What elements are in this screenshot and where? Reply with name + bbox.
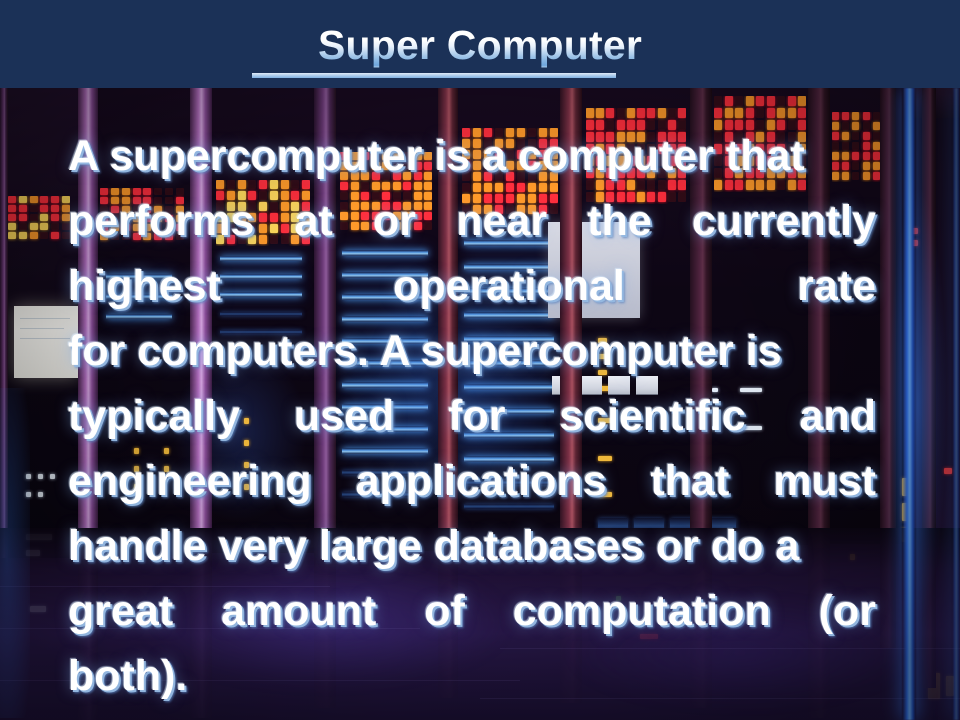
led-dot <box>617 108 625 118</box>
body-line: greatamountofcomputation(or <box>68 579 876 644</box>
body-word: computation <box>513 579 771 644</box>
led-dot <box>767 108 775 118</box>
led-dot <box>788 96 796 106</box>
led-dot <box>40 205 48 212</box>
led-dot <box>842 112 849 120</box>
blue-light-haze <box>0 388 30 718</box>
body-word: and <box>800 384 876 449</box>
led-dot <box>725 96 733 106</box>
led-dot <box>873 112 880 120</box>
monitor-text-line <box>20 318 70 319</box>
led-row <box>8 232 70 239</box>
led-row <box>714 96 806 106</box>
led-dot <box>30 232 38 239</box>
body-line: performsatornearthecurrently <box>68 189 876 254</box>
led-row <box>8 196 70 203</box>
led-dot <box>19 232 27 239</box>
body-word: great <box>68 579 173 644</box>
body-line: handle very large databases or do a <box>68 514 876 579</box>
body-line: for computers. A supercomputer is <box>68 319 876 384</box>
body-line: both). <box>68 644 876 709</box>
monitor-text-line <box>20 328 64 329</box>
led-dot <box>832 112 839 120</box>
led-dot <box>40 223 48 230</box>
body-word: must <box>773 449 876 514</box>
led-dot <box>51 232 59 239</box>
body-word: scientific <box>559 384 745 449</box>
led-dot <box>756 108 764 118</box>
led-dot <box>51 223 59 230</box>
led-dot <box>777 108 785 118</box>
slide-canvas: A supercomputer is a computer that perfo… <box>0 0 960 720</box>
body-word: highest <box>68 254 221 319</box>
body-line: highestoperationalrate <box>68 254 876 319</box>
led-dot <box>668 108 676 118</box>
led-dot <box>30 223 38 230</box>
status-led <box>38 492 43 497</box>
led-dot <box>40 232 48 239</box>
body-word: typically <box>68 384 240 449</box>
body-word: engineering <box>68 449 312 514</box>
body-word: the <box>587 189 652 254</box>
led-dot <box>678 108 686 118</box>
title-underline <box>252 73 616 78</box>
body-word: of <box>424 579 465 644</box>
body-line: typicallyusedforscientificand <box>68 384 876 449</box>
body-word: at <box>295 189 333 254</box>
body-line: A supercomputer is a computer that <box>68 124 876 189</box>
body-word: or <box>373 189 416 254</box>
led-dot <box>627 108 635 118</box>
led-dot <box>8 223 16 230</box>
led-row <box>8 214 70 221</box>
led-dot <box>852 112 859 120</box>
led-dot <box>51 196 59 203</box>
led-dot <box>746 108 754 118</box>
led-dot <box>30 196 38 203</box>
body-word: for <box>448 384 505 449</box>
led-dot <box>777 96 785 106</box>
led-dot <box>606 108 614 118</box>
led-dot <box>725 108 733 118</box>
led-dot <box>735 96 743 106</box>
led-dot <box>647 108 655 118</box>
led-dot <box>19 196 27 203</box>
led-dot <box>788 108 796 118</box>
led-dot <box>30 214 38 221</box>
blue-light-strip <box>902 88 916 720</box>
led-dot <box>798 108 806 118</box>
led-dot <box>863 112 870 120</box>
blue-light-strip <box>952 88 960 720</box>
monitor-text-line <box>20 338 70 339</box>
led-row <box>586 108 686 118</box>
body-word: near <box>456 189 547 254</box>
body-word: applications <box>356 449 607 514</box>
body-word: amount <box>221 579 376 644</box>
led-matrix-panel <box>8 196 70 244</box>
led-dot <box>798 96 806 106</box>
led-dot <box>8 196 16 203</box>
led-dot <box>8 205 16 212</box>
led-row <box>8 223 70 230</box>
blue-light-haze <box>886 88 950 720</box>
led-dot <box>756 96 764 106</box>
led-dot <box>30 205 38 212</box>
body-word: (or <box>819 579 876 644</box>
led-dot <box>746 96 754 106</box>
body-word: that <box>650 449 729 514</box>
led-dot <box>19 205 27 212</box>
led-dot <box>735 108 743 118</box>
led-row <box>8 205 70 212</box>
slide-body-text: A supercomputer is a computer that perfo… <box>68 124 876 709</box>
led-dot <box>8 214 16 221</box>
led-dot <box>714 96 722 106</box>
led-dot <box>51 214 59 221</box>
led-dot <box>40 214 48 221</box>
led-dot <box>596 108 604 118</box>
body-line: engineeringapplicationsthatmust <box>68 449 876 514</box>
led-row <box>714 108 806 118</box>
led-dot <box>19 223 27 230</box>
status-led <box>38 474 43 479</box>
led-dot <box>658 108 666 118</box>
led-dot <box>8 232 16 239</box>
led-dot <box>767 96 775 106</box>
page-title: Super Computer <box>0 22 960 69</box>
led-dot <box>40 196 48 203</box>
led-dot <box>714 108 722 118</box>
led-dot <box>586 108 594 118</box>
body-word: used <box>294 384 394 449</box>
led-dot <box>19 214 27 221</box>
body-word: operational <box>393 254 625 319</box>
body-word: rate <box>797 254 876 319</box>
led-dot <box>51 205 59 212</box>
body-word: performs <box>68 189 254 254</box>
status-led <box>50 474 55 479</box>
led-dot <box>637 108 645 118</box>
body-word: currently <box>692 189 876 254</box>
